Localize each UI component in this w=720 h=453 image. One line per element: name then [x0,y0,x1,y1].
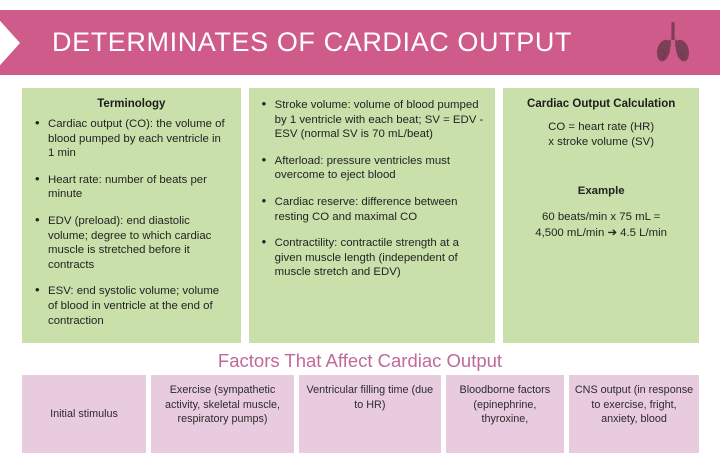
factors-section-title: Factors That Affect Cardiac Output [0,350,720,372]
example-line-1: 60 beats/min x 75 mL = [515,209,687,225]
example-label: Example [515,184,687,199]
example-line-2: 4,500 mL/min ➔ 4.5 L/min [515,225,687,241]
list-item: EDV (preload): end diastolic volume; deg… [34,214,229,272]
terminology-list: Cardiac output (CO): the volume of blood… [34,117,229,328]
chevron-right-icon [0,20,20,66]
content-panels: Terminology Cardiac output (CO): the vol… [22,88,699,343]
panel-terminology: Terminology Cardiac output (CO): the vol… [22,88,241,343]
factor-box-ventricular-filling-time: Ventricular filling time (due to HR) [299,375,441,453]
list-item: ESV: end systolic volume; volume of bloo… [34,284,229,328]
list-item: Heart rate: number of beats per minute [34,173,229,202]
page-title: DETERMINATES OF CARDIAC OUTPUT [52,10,572,75]
list-item: Stroke volume: volume of blood pumped by… [261,98,484,142]
panel-terminology-title: Terminology [34,98,229,110]
factor-box-exercise: Exercise (sympathetic activity, skeletal… [151,375,294,453]
panel-terminology-continued: Stroke volume: volume of blood pumped by… [249,88,496,343]
calculation-body: CO = heart rate (HR) x stroke volume (SV… [515,120,687,241]
list-item: Cardiac reserve: difference between rest… [261,195,484,224]
list-item: Contractility: contractile strength at a… [261,236,484,280]
panel-calculation-title: Cardiac Output Calculation [515,98,687,110]
panel-cardiac-output-calculation: Cardiac Output Calculation CO = heart ra… [503,88,699,343]
factor-box-initial-stimulus: Initial stimulus [22,375,146,453]
factor-box-cns-output: CNS output (in response to exercise, fri… [569,375,699,453]
formula-line-1: CO = heart rate (HR) [515,120,687,135]
header-band: DETERMINATES OF CARDIAC OUTPUT [0,10,720,75]
list-item: Afterload: pressure ventricles must over… [261,154,484,183]
lungs-icon [648,18,698,68]
list-item: Cardiac output (CO): the volume of blood… [34,117,229,161]
formula-line-2: x stroke volume (SV) [515,135,687,150]
terminology-continued-list: Stroke volume: volume of blood pumped by… [261,98,484,280]
factor-box-bloodborne-factors: Bloodborne factors (epinephrine, thyroxi… [446,375,564,453]
factor-boxes: Initial stimulus Exercise (sympathetic a… [22,375,699,453]
